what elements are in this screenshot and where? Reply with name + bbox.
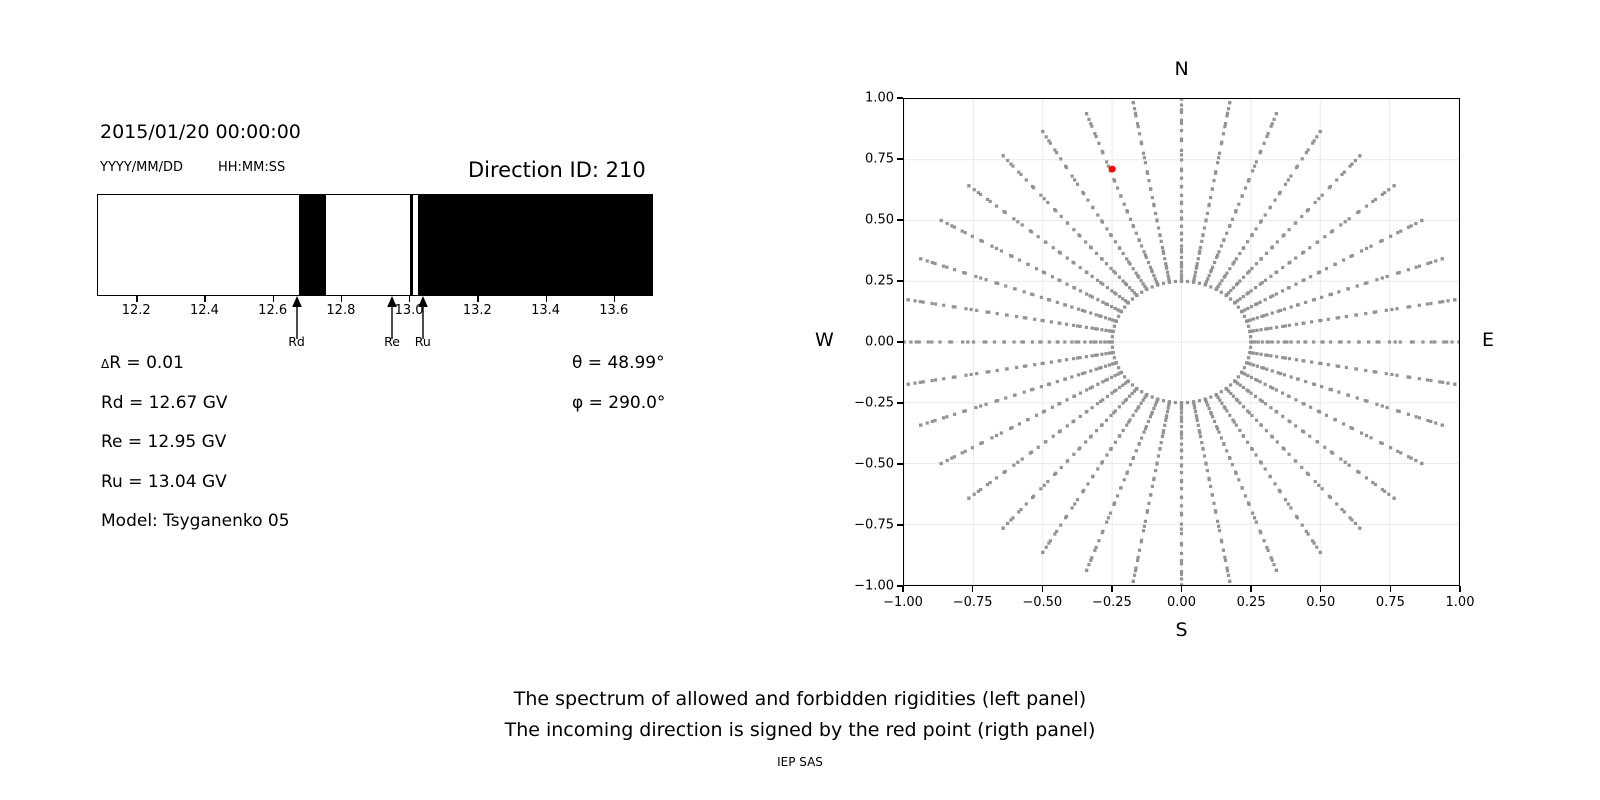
y-axis-tick-label: 0.00 xyxy=(865,335,894,350)
axis-tick xyxy=(136,296,137,302)
info-left-row: Re = 12.95 GV xyxy=(101,432,226,452)
y-axis-tick-label: −0.25 xyxy=(854,396,894,411)
x-axis-tick-mark xyxy=(1042,586,1043,592)
info-left-row: ΔR = 0.01 xyxy=(101,353,184,373)
y-axis-tick-mark xyxy=(897,524,903,525)
y-axis-tick-label: 1.00 xyxy=(865,91,894,106)
x-axis-tick-mark xyxy=(902,586,903,592)
y-axis-tick-mark xyxy=(897,158,903,159)
incoming-direction-point xyxy=(1109,166,1116,173)
axis-tick xyxy=(546,296,547,302)
x-axis-tick-mark xyxy=(972,586,973,592)
y-axis-tick-mark xyxy=(897,402,903,403)
info-right-row: φ = 290.0° xyxy=(572,393,665,413)
compass-north-label: N xyxy=(1175,58,1189,80)
info-right-row: θ = 48.99° xyxy=(572,353,665,373)
info-left-row-text: R = 0.01 xyxy=(109,353,184,373)
x-axis-tick-label: 1.00 xyxy=(1446,595,1475,610)
rigidity-marker-label: Re xyxy=(384,334,400,349)
y-axis-tick-label: −0.75 xyxy=(854,518,894,533)
x-axis-tick-mark xyxy=(1111,586,1112,592)
info-left-row: Ru = 13.04 GV xyxy=(101,472,227,492)
y-axis-tick-label: 0.50 xyxy=(865,213,894,228)
axis-tick xyxy=(477,296,478,302)
compass-east-label: E xyxy=(1482,329,1494,351)
forbidden-band xyxy=(299,195,326,295)
y-axis-tick-mark xyxy=(897,463,903,464)
y-axis-tick-mark xyxy=(897,341,903,342)
rigidity-marker-label: Ru xyxy=(415,334,431,349)
figure-caption: The spectrum of allowed and forbidden ri… xyxy=(0,684,1600,746)
axis-tick-label: 12.8 xyxy=(326,303,355,318)
axis-tick-label: 13.4 xyxy=(531,303,560,318)
x-axis-tick-mark xyxy=(1459,586,1460,592)
delta-symbol: Δ xyxy=(101,357,109,371)
axis-tick-label: 13.2 xyxy=(463,303,492,318)
datetime-label: 2015/01/20 00:00:00 xyxy=(100,121,301,143)
x-axis-tick-label: −0.50 xyxy=(1022,595,1062,610)
caption-line-2: The incoming direction is signed by the … xyxy=(0,715,1600,746)
direction-id-label: Direction ID: 210 xyxy=(468,158,646,182)
rigidity-spectrum-bar xyxy=(97,194,653,296)
x-axis-tick-label: 0.00 xyxy=(1167,595,1196,610)
axis-tick-label: 12.6 xyxy=(258,303,287,318)
x-axis-tick-label: −0.75 xyxy=(953,595,993,610)
polar-scatter-plot xyxy=(903,98,1460,586)
compass-south-label: S xyxy=(1176,619,1188,641)
axis-tick-label: 12.2 xyxy=(122,303,151,318)
date-format-label: YYYY/MM/DD xyxy=(100,160,183,175)
axis-tick xyxy=(204,296,205,302)
info-left-row: Model: Tsyganenko 05 xyxy=(101,511,290,531)
direction-sky-map-panel: N S E W 1.000.750.500.250.00−0.25−0.50−0… xyxy=(820,40,1540,660)
y-axis-tick-label: 0.25 xyxy=(865,274,894,289)
x-axis-tick-mark xyxy=(1181,586,1182,592)
y-axis-tick-label: −0.50 xyxy=(854,457,894,472)
axis-tick xyxy=(614,296,615,302)
axis-tick-label: 13.6 xyxy=(599,303,628,318)
forbidden-band xyxy=(410,195,413,295)
axis-tick xyxy=(341,296,342,302)
y-axis-tick-mark xyxy=(897,97,903,98)
rigidity-marker-label: Rd xyxy=(288,334,305,349)
compass-west-label: W xyxy=(815,329,834,351)
caption-line-1: The spectrum of allowed and forbidden ri… xyxy=(0,684,1600,715)
x-axis-tick-mark xyxy=(1320,586,1321,592)
rigidity-spectrum-panel: 2015/01/20 00:00:00 YYYY/MM/DD HH:MM:SS … xyxy=(0,0,760,620)
x-axis-tick-label: −1.00 xyxy=(883,595,923,610)
x-axis-tick-label: 0.75 xyxy=(1376,595,1405,610)
spectrum-x-axis: 12.212.412.612.813.013.213.413.6RdReRu xyxy=(97,296,653,352)
spectrum-bar-container xyxy=(97,194,653,296)
x-axis-tick-label: −0.25 xyxy=(1092,595,1132,610)
axis-tick xyxy=(273,296,274,302)
info-left-row: Rd = 12.67 GV xyxy=(101,393,228,413)
scatter-canvas xyxy=(904,99,1459,585)
axis-tick xyxy=(409,296,410,302)
time-format-label: HH:MM:SS xyxy=(218,160,285,175)
axis-tick-label: 12.4 xyxy=(190,303,219,318)
y-axis-tick-label: −1.00 xyxy=(854,579,894,594)
y-axis-tick-label: 0.75 xyxy=(865,152,894,167)
x-axis-tick-mark xyxy=(1250,586,1251,592)
axis-tick-label: 13.0 xyxy=(395,303,424,318)
y-axis-tick-mark xyxy=(897,219,903,220)
x-axis-tick-label: 0.50 xyxy=(1306,595,1335,610)
footer-credit: IEP SAS xyxy=(0,755,1600,769)
rigidity-marker-arrow xyxy=(285,295,309,339)
x-axis-tick-label: 0.25 xyxy=(1237,595,1266,610)
y-axis-tick-mark xyxy=(897,280,903,281)
forbidden-band xyxy=(418,195,653,295)
x-axis-tick-mark xyxy=(1390,586,1391,592)
